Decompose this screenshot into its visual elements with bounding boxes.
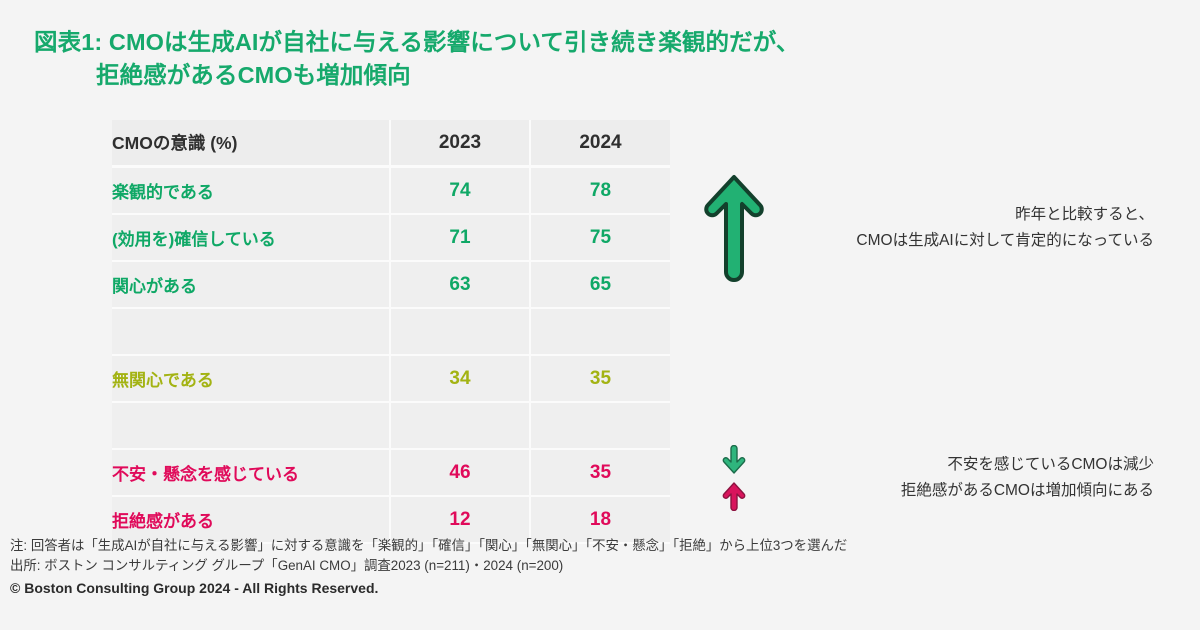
annotation-change: 不安を感じているCMOは減少 拒絶感があるCMOは増加傾向にある	[686, 445, 1176, 511]
row-value-2024: 75	[530, 214, 670, 261]
cmo-sentiment-table: CMOの意識 (%) 2023 2024 楽観的である 74 78 (効用を)確…	[112, 120, 670, 544]
page-title: 図表1: CMOは生成AIが自社に与える影響について引き続き楽観的だが、 拒絶感…	[34, 26, 1034, 92]
row-value-2024: 78	[530, 167, 670, 215]
arrow-up-big-icon	[703, 172, 765, 284]
annotation-change-line-2: 拒絶感があるCMOは増加傾向にある	[782, 478, 1154, 504]
row-value-2023: 46	[390, 449, 530, 496]
row-value-2023: 71	[390, 214, 530, 261]
annotation-positive: 昨年と比較すると、 CMOは生成AIに対して肯定的になっている	[686, 172, 1176, 284]
row-value-2024: 65	[530, 261, 670, 308]
annotation-positive-line-1: 昨年と比較すると、	[782, 202, 1154, 228]
row-label: 楽観的である	[112, 167, 390, 215]
annotation-positive-line-2: CMOは生成AIに対して肯定的になっている	[782, 228, 1154, 254]
annotation-change-text: 不安を感じているCMOは減少 拒絶感があるCMOは増加傾向にある	[782, 452, 1176, 504]
row-value-2023	[390, 402, 530, 449]
row-value-2023	[390, 308, 530, 355]
row-value-2024	[530, 308, 670, 355]
column-header-2023: 2023	[390, 120, 530, 167]
footnotes: 注: 回答者は「生成AIが自社に与える影響」に対する意識を「楽観的」「確信」「関…	[10, 536, 1190, 576]
row-label: 関心がある	[112, 261, 390, 308]
stats-table-container: CMOの意識 (%) 2023 2024 楽観的である 74 78 (効用を)確…	[112, 120, 670, 544]
row-label	[112, 402, 390, 449]
row-label: (効用を)確信している	[112, 214, 390, 261]
row-label: 無関心である	[112, 355, 390, 402]
title-line-2: 拒絶感があるCMOも増加傾向	[96, 59, 1034, 92]
table-row: 無関心である 34 35	[112, 355, 670, 402]
arrow-up-big-slot	[686, 172, 782, 284]
annotation-change-line-1: 不安を感じているCMOは減少	[782, 452, 1154, 478]
row-value-2023: 74	[390, 167, 530, 215]
arrow-up-small-icon	[722, 481, 746, 511]
row-label: 不安・懸念を感じている	[112, 449, 390, 496]
arrow-small-slot	[686, 445, 782, 511]
slide-canvas: 図表1: CMOは生成AIが自社に与える影響について引き続き楽観的だが、 拒絶感…	[0, 0, 1200, 630]
table-header-row: CMOの意識 (%) 2023 2024	[112, 120, 670, 167]
title-line-1: 図表1: CMOは生成AIが自社に与える影響について引き続き楽観的だが、	[34, 26, 1034, 59]
footnote-note: 注: 回答者は「生成AIが自社に与える影響」に対する意識を「楽観的」「確信」「関…	[10, 536, 1190, 556]
annotation-positive-text: 昨年と比較すると、 CMOは生成AIに対して肯定的になっている	[782, 202, 1176, 254]
table-row-spacer	[112, 402, 670, 449]
copyright-notice: © Boston Consulting Group 2024 - All Rig…	[10, 580, 378, 596]
row-value-2024	[530, 402, 670, 449]
table-row: (効用を)確信している 71 75	[112, 214, 670, 261]
row-value-2023: 63	[390, 261, 530, 308]
table-row-spacer	[112, 308, 670, 355]
row-value-2024: 35	[530, 449, 670, 496]
table-row: 楽観的である 74 78	[112, 167, 670, 215]
row-label	[112, 308, 390, 355]
table-row: 関心がある 63 65	[112, 261, 670, 308]
row-value-2023: 34	[390, 355, 530, 402]
column-header-label: CMOの意識 (%)	[112, 120, 390, 167]
arrow-down-small-icon	[722, 445, 746, 475]
row-value-2024: 35	[530, 355, 670, 402]
table-row: 不安・懸念を感じている 46 35	[112, 449, 670, 496]
footnote-source: 出所: ボストン コンサルティング グループ「GenAI CMO」調査2023 …	[10, 556, 1190, 576]
column-header-2024: 2024	[530, 120, 670, 167]
